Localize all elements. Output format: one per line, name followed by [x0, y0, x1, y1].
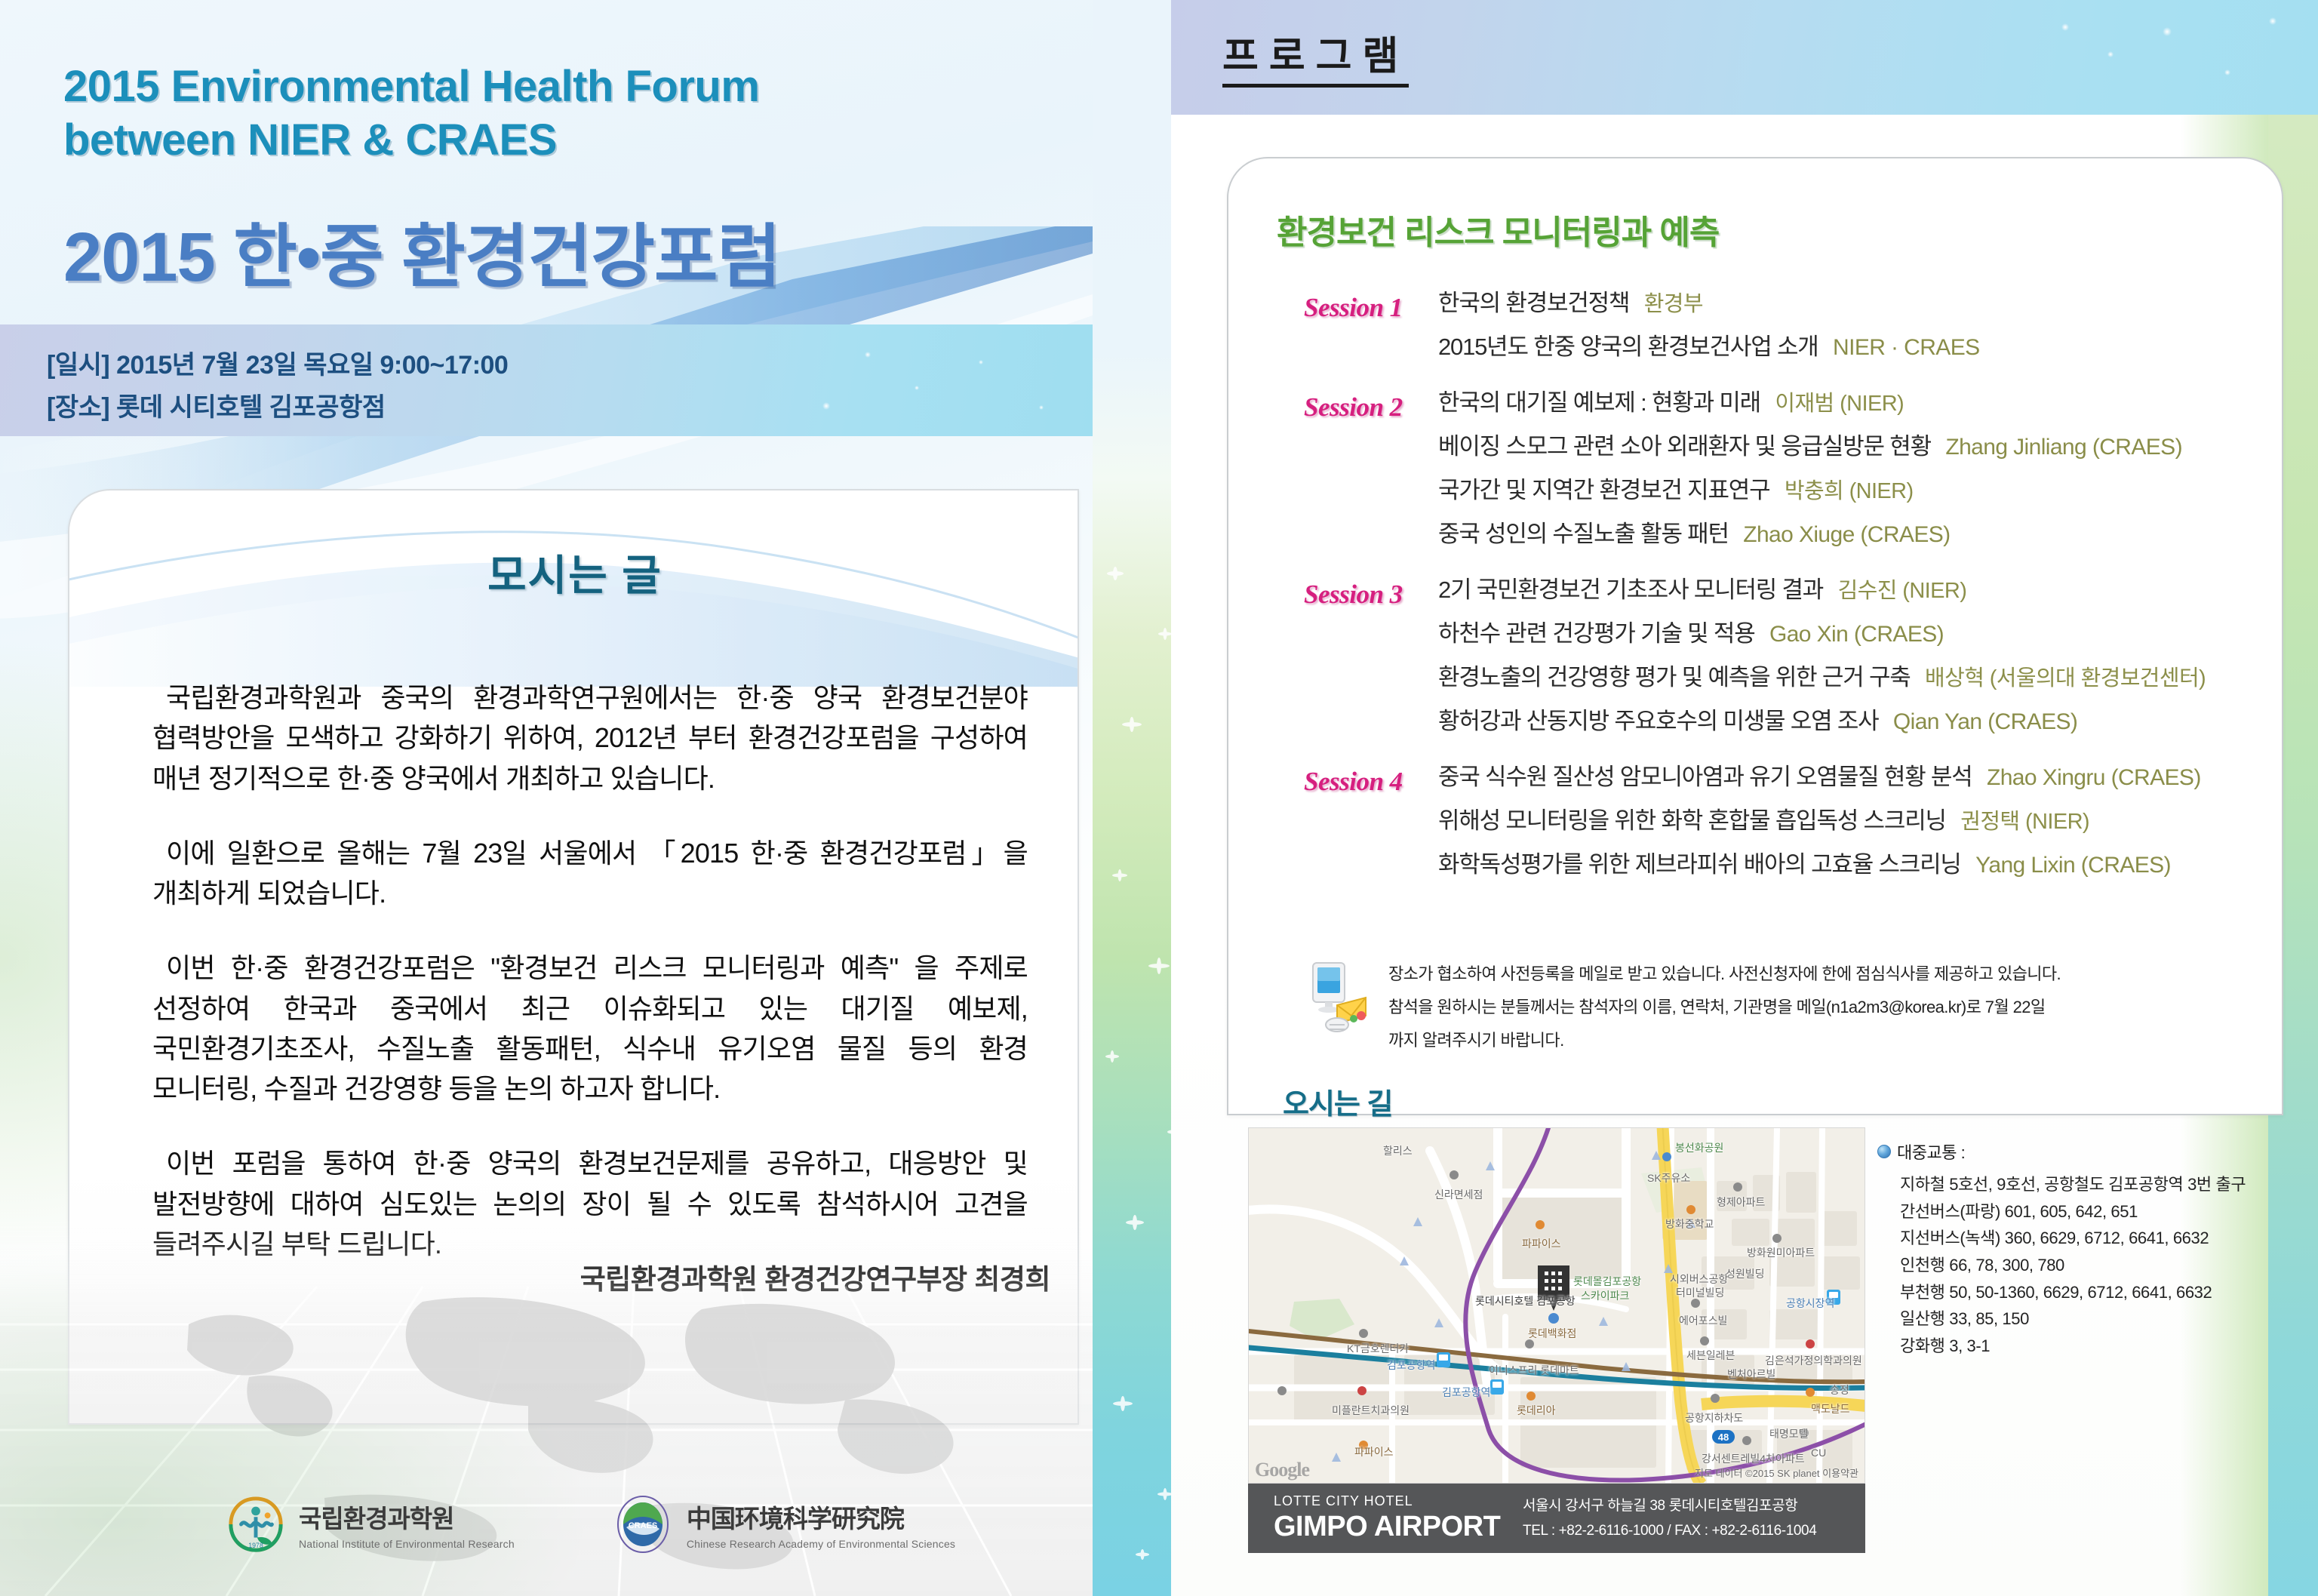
session-items: 한국의 환경보건정책 환경부 2015년도 한중 양국의 환경보건사업 소개 N… — [1438, 291, 2277, 359]
english-title: 2015 Environmental Health Forum between … — [63, 60, 1007, 168]
svg-text:CRAES: CRAES — [629, 1521, 658, 1530]
map-label: 형제아파트 — [1717, 1195, 1765, 1210]
session-items: 2기 국민환경보건 기초조사 모니터링 결과 김수진 (NIER) 하천수 관련… — [1438, 578, 2277, 733]
session-item: 하천수 관련 건강평가 기술 및 적용 Gao Xin (CRAES) — [1438, 622, 2277, 646]
notice-line-2: 참석을 원하시는 분들께서는 참석자의 이름, 연락처, 기관명을 메일(n1a… — [1388, 999, 2265, 1016]
map-label: 롯데리아 — [1517, 1403, 1556, 1418]
program-card: 환경보건 리스크 모니터링과 예측 Session 1 한국의 환경보건정책 환… — [1227, 157, 2283, 1115]
session-item-title: 한국의 환경보건정책 — [1438, 290, 1629, 316]
notice-line-1: 장소가 협소하여 사전등록을 메일로 받고 있습니다. 사전신청자에 한에 점심… — [1388, 966, 2265, 983]
session-block: Session 2 한국의 대기질 예보제 : 현황과 미래 이재범 (NIER… — [1304, 391, 2277, 546]
invitation-heading: 모시는 글 — [69, 542, 1079, 603]
hotel-brand-big: GIMPO AIRPORT — [1274, 1511, 1523, 1543]
transit-row: 일산행 33, 85, 150 — [1900, 1305, 2292, 1333]
map-label: 신라면세점 — [1434, 1187, 1483, 1202]
session-item-speaker: 배상혁 (서울의대 환경보건센터) — [1925, 666, 2206, 690]
event-info-band: [일시] 2015년 7월 23일 목요일 9:00~17:00 [장소] 롯데… — [0, 324, 1093, 436]
map-label: 성원빌딩 — [1726, 1266, 1765, 1281]
map-label: 공항시장역 — [1786, 1296, 1834, 1311]
map-label: 방화원미아파트 — [1747, 1245, 1815, 1260]
google-watermark: Google — [1255, 1459, 1309, 1481]
session-label: Session 1 — [1304, 291, 1438, 359]
map-label: 방화중학교 — [1665, 1216, 1714, 1232]
map-label: 태명모텔 — [1769, 1426, 1809, 1441]
logo-nier-text: 국립환경과학원 National Institute of Environmen… — [299, 1499, 515, 1550]
session-item-speaker: Qian Yan (CRAES) — [1893, 709, 2077, 734]
session-item: 국가간 및 지역간 환경보건 지표연구 박충희 (NIER) — [1438, 478, 2277, 503]
directions-heading: 오시는 길 — [1283, 1081, 1392, 1122]
transit-row: 간선버스(파랑) 601, 605, 642, 651 — [1900, 1198, 2292, 1225]
session-item-speaker: Zhao Xiuge (CRAES) — [1743, 522, 1950, 547]
map-label: 김은석가정의학과의원 — [1765, 1353, 1862, 1368]
map-label: SK주유소 — [1647, 1170, 1690, 1185]
session-item-speaker: Yang Lixin (CRAES) — [1975, 853, 2171, 878]
invitation-page: 2015 Environmental Health Forum between … — [0, 0, 1093, 1596]
map-label: KT금호렌터카 — [1347, 1341, 1409, 1356]
transit-rows: 지하철 5호선, 9호선, 공항철도 김포공항역 3번 출구 간선버스(파랑) … — [1877, 1171, 2292, 1359]
session-block: Session 3 2기 국민환경보건 기초조사 모니터링 결과 김수진 (NI… — [1304, 578, 2277, 733]
session-block: Session 1 한국의 환경보건정책 환경부 2015년도 한중 양국의 환… — [1304, 291, 2277, 359]
session-label: Session 3 — [1304, 578, 1438, 733]
session-item: 한국의 대기질 예보제 : 현황과 미래 이재범 (NIER) — [1438, 391, 2277, 415]
map-label: 김포공항역 — [1442, 1385, 1490, 1400]
map-label: 강서센트레빌4차아파트 — [1702, 1451, 1805, 1466]
session-items: 한국의 대기질 예보제 : 현황과 미래 이재범 (NIER) 베이징 스모그 … — [1438, 391, 2277, 546]
session-item: 2기 국민환경보건 기초조사 모니터링 결과 김수진 (NIER) — [1438, 578, 2277, 602]
session-item: 중국 식수원 질산성 암모니아염과 유기 오염물질 현황 분석 Zhao Xin… — [1438, 765, 2277, 789]
map-label: 롯데시티호텔 김포공항 — [1475, 1293, 1576, 1308]
map-label: 맥도날드 — [1811, 1401, 1850, 1416]
craes-logo-icon: CRAES — [613, 1494, 673, 1554]
map-label: 공항지하차도 — [1685, 1410, 1743, 1425]
map-label: 터미널빌딩 — [1676, 1285, 1724, 1300]
notice-line-3: 까지 알려주시기 바랍니다. — [1388, 1032, 2265, 1049]
session-item-speaker: Zhao Xingru (CRAES) — [1987, 765, 2201, 790]
transit-row: 인천행 66, 78, 300, 780 — [1900, 1252, 2292, 1279]
session-item: 중국 성인의 수질노출 활동 패턴 Zhao Xiuge (CRAES) — [1438, 522, 2277, 546]
session-item-title: 중국 성인의 수질노출 활동 패턴 — [1438, 521, 1729, 547]
registration-notice: 장소가 협소하여 사전등록을 메일로 받고 있습니다. 사전신청자에 한에 점심… — [1307, 960, 2265, 1066]
session-item-title: 2기 국민환경보건 기초조사 모니터링 결과 — [1438, 577, 1823, 603]
session-item-title: 베이징 스모그 관련 소아 외래환자 및 응급실방문 현황 — [1438, 433, 1931, 460]
invitation-paragraph-2: 이에 일환으로 올해는 7월 23일 서울에서 「2015 한·중 환경건강포럼… — [152, 833, 1028, 914]
program-title: 프로그램 — [1222, 24, 1409, 88]
session-item-title: 한국의 대기질 예보제 : 현황과 미래 — [1438, 389, 1760, 416]
logo-craes-name-kr: 中国环境科学研究院 — [687, 1499, 955, 1535]
map-label: 파파이스 — [1354, 1444, 1394, 1459]
session-item-speaker: 환경부 — [1644, 292, 1703, 316]
nier-logo-icon: 1978 — [226, 1495, 285, 1554]
session-item-title: 황허강과 산동지방 주요호수의 미생물 오염 조사 — [1438, 708, 1878, 734]
map-label: 스카이파크 — [1581, 1288, 1629, 1303]
session-item-speaker: NIER · CRAES — [1833, 335, 1980, 360]
session-item-title: 2015년도 한중 양국의 환경보건사업 소개 — [1438, 334, 1818, 360]
map-label: 세븐일레븐 — [1686, 1348, 1735, 1363]
session-item-title: 환경노출의 건강영향 평가 및 예측을 위한 근거 구축 — [1438, 664, 1911, 690]
session-item-title: 하천수 관련 건강평가 기술 및 적용 — [1438, 620, 1755, 647]
session-item-speaker: Zhang Jinliang (CRAES) — [1945, 435, 2182, 460]
hotel-brand: LOTTE CITY HOTEL GIMPO AIRPORT — [1274, 1493, 1523, 1543]
location-map[interactable]: 48 — [1248, 1127, 1865, 1484]
monitor-mail-icon — [1307, 960, 1372, 1035]
hotel-contact: 서울시 강서구 하늘길 38 롯데시티호텔김포공항 TEL : +82-2-61… — [1523, 1493, 1816, 1544]
session-item-title: 국가간 및 지역간 환경보건 지표연구 — [1438, 477, 1769, 503]
transit-heading-label: 대중교통 : — [1897, 1139, 1965, 1164]
event-date: [일시] 2015년 7월 23일 목요일 9:00~17:00 — [47, 344, 508, 381]
transit-row: 부천행 50, 50-1360, 6629, 6712, 6641, 6632 — [1900, 1279, 2292, 1306]
session-item: 화학독성평가를 위한 제브라피쉬 배아의 고효율 스크리닝 Yang Lixin… — [1438, 853, 2277, 877]
logo-nier-name-kr: 국립환경과학원 — [299, 1499, 515, 1535]
english-title-line2: between NIER & CRAES — [63, 114, 1007, 168]
invitation-paragraph-3: 이번 한·중 환경건강포럼은 "환경보건 리스크 모니터링과 예측" 을 주제로… — [152, 948, 1028, 1109]
notice-text: 장소가 협소하여 사전등록을 메일로 받고 있습니다. 사전신청자에 한에 점심… — [1388, 960, 2265, 1066]
notice-icon-group — [1307, 960, 1372, 1035]
logo-nier-name-en: National Institute of Environmental Rese… — [299, 1538, 515, 1550]
map-label: 시외버스공항 — [1670, 1272, 1728, 1287]
map-label-layer: 할리스봉선화공원SK주유소신라면세점형제아파트방화중학교파파이스방화원미아파트성… — [1249, 1128, 1865, 1484]
map-label: 파파이스 — [1522, 1236, 1561, 1251]
session-item: 환경노출의 건강영향 평가 및 예측을 위한 근거 구축 배상혁 (서울의대 환… — [1438, 666, 2277, 690]
session-item: 황허강과 산동지방 주요호수의 미생물 오염 조사 Qian Yan (CRAE… — [1438, 709, 2277, 733]
map-label: 롯데백화점 — [1528, 1326, 1576, 1341]
session-item: 2015년도 한중 양국의 환경보건사업 소개 NIER · CRAES — [1438, 335, 2277, 359]
session-item: 한국의 환경보건정책 환경부 — [1438, 291, 2277, 315]
session-item-speaker: 권정택 (NIER) — [1960, 810, 2089, 834]
english-title-line1: 2015 Environmental Health Forum — [63, 60, 1007, 114]
session-item-title: 중국 식수원 질산성 암모니아염과 유기 오염물질 현황 분석 — [1438, 764, 1972, 790]
hotel-address: 서울시 강서구 하늘길 38 롯데시티호텔김포공항 — [1523, 1493, 1816, 1518]
globe-icon — [1877, 1145, 1891, 1158]
logo-craes-text: 中国环境科学研究院 Chinese Research Academy of En… — [687, 1499, 955, 1550]
session-items: 중국 식수원 질산성 암모니아염과 유기 오염물질 현황 분석 Zhao Xin… — [1438, 765, 2277, 877]
map-label: 봉선화공원 — [1675, 1140, 1723, 1155]
session-item-title: 화학독성평가를 위한 제브라피쉬 배아의 고효율 스크리닝 — [1438, 851, 1961, 878]
session-item-speaker: 김수진 (NIER) — [1838, 579, 1967, 603]
map-label: 미플란트치과의원 — [1332, 1403, 1410, 1418]
session-label: Session 4 — [1304, 765, 1438, 877]
session-item: 베이징 스모그 관련 소아 외래환자 및 응급실방문 현황 Zhang Jinl… — [1438, 435, 2277, 459]
session-item-speaker: 이재범 (NIER) — [1775, 392, 1904, 416]
poster-canvas: 2015 Environmental Health Forum between … — [0, 0, 2318, 1596]
program-header-band: 프로그램 — [1171, 0, 2318, 115]
event-place: [장소] 롯데 시티호텔 김포공항점 — [47, 386, 386, 423]
logo-nier: 1978 국립환경과학원 National Institute of Envir… — [226, 1495, 515, 1554]
session-item-speaker: Gao Xin (CRAES) — [1769, 622, 1944, 647]
session-label: Session 2 — [1304, 391, 1438, 546]
map-label: 이니스프리 롯데마트 — [1489, 1363, 1579, 1378]
map-label: 롯데몰김포공항 — [1573, 1274, 1641, 1289]
session-item: 위해성 모니터링을 위한 화학 혼합물 흡입독성 스크리닝 권정택 (NIER) — [1438, 809, 2277, 833]
svg-text:1978: 1978 — [248, 1542, 263, 1549]
map-label: 에어포스빌 — [1679, 1313, 1727, 1328]
hotel-brand-small: LOTTE CITY HOTEL — [1274, 1493, 1523, 1509]
map-label: 벤처아르빌 — [1727, 1367, 1775, 1382]
transit-heading: 대중교통 : — [1877, 1139, 2292, 1164]
map-label: CU — [1811, 1447, 1826, 1459]
logo-craes: CRAES 中国环境科学研究院 Chinese Research Academy… — [613, 1494, 955, 1554]
map-label: 김포공항역 — [1387, 1358, 1435, 1373]
session-block: Session 4 중국 식수원 질산성 암모니아염과 유기 오염물질 현황 분… — [1304, 765, 2277, 877]
sponsor-logos: 1978 국립환경과학원 National Institute of Envir… — [226, 1475, 905, 1573]
logo-craes-name-en: Chinese Research Academy of Environmenta… — [687, 1538, 955, 1550]
korean-title: 2015 한•중 환경건강포럼 — [63, 201, 780, 301]
session-list: Session 1 한국의 환경보건정책 환경부 2015년도 한중 양국의 환… — [1304, 291, 2277, 909]
map-credit: 지도 데이터 ©2015 SK planet 이용약관 — [1695, 1465, 1858, 1480]
transit-info: 대중교통 : 지하철 5호선, 9호선, 공항철도 김포공항역 3번 출구 간선… — [1877, 1139, 2292, 1359]
hotel-phone: TEL : +82-2-6116-1000 / FAX : +82-2-6116… — [1523, 1518, 1816, 1543]
program-theme: 환경보건 리스크 모니터링과 예측 — [1277, 205, 1719, 254]
transit-row: 지하철 5호선, 9호선, 공항철도 김포공항역 3번 출구 — [1900, 1171, 2292, 1198]
map-label: 송정 — [1830, 1382, 1849, 1398]
transit-row: 지선버스(녹색) 360, 6629, 6712, 6641, 6632 — [1900, 1225, 2292, 1252]
invitation-paragraph-1: 국립환경과학원과 중국의 환경과학연구원에서는 한·중 양국 환경보건분야 협력… — [152, 678, 1028, 798]
session-item-speaker: 박충희 (NIER) — [1785, 479, 1914, 503]
hotel-info-bar: LOTTE CITY HOTEL GIMPO AIRPORT 서울시 강서구 하… — [1248, 1484, 1865, 1553]
transit-row: 강화행 3, 3-1 — [1900, 1333, 2292, 1360]
session-item-title: 위해성 모니터링을 위한 화학 혼합물 흡입독성 스크리닝 — [1438, 807, 1946, 834]
map-label: 할리스 — [1383, 1143, 1413, 1158]
